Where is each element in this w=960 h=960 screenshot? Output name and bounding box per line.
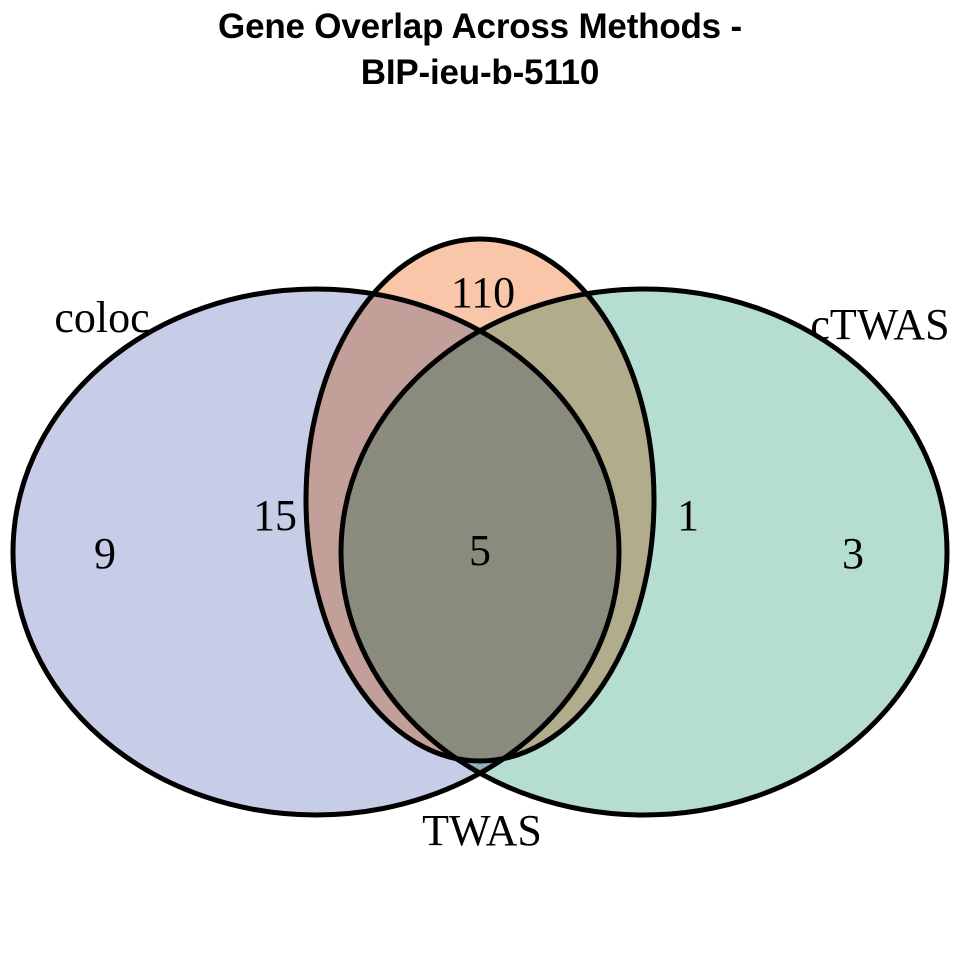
region-count-coloc-twas: 15 xyxy=(253,491,297,540)
region-count-all-three: 5 xyxy=(469,526,491,575)
region-count-twas-only: 110 xyxy=(451,268,515,317)
region-count-ctwas-only: 3 xyxy=(842,529,864,578)
venn-diagram-canvas: Gene Overlap Across Methods - BIP-ieu-b-… xyxy=(0,0,960,960)
region-count-twas-ctwas: 1 xyxy=(677,491,699,540)
venn-svg: coloc cTWAS TWAS 9 15 110 5 1 3 xyxy=(0,0,960,960)
set-label-twas: TWAS xyxy=(422,806,542,855)
set-label-coloc: coloc xyxy=(54,293,149,342)
set-label-ctwas: cTWAS xyxy=(810,300,949,349)
region-count-coloc-only: 9 xyxy=(94,529,116,578)
